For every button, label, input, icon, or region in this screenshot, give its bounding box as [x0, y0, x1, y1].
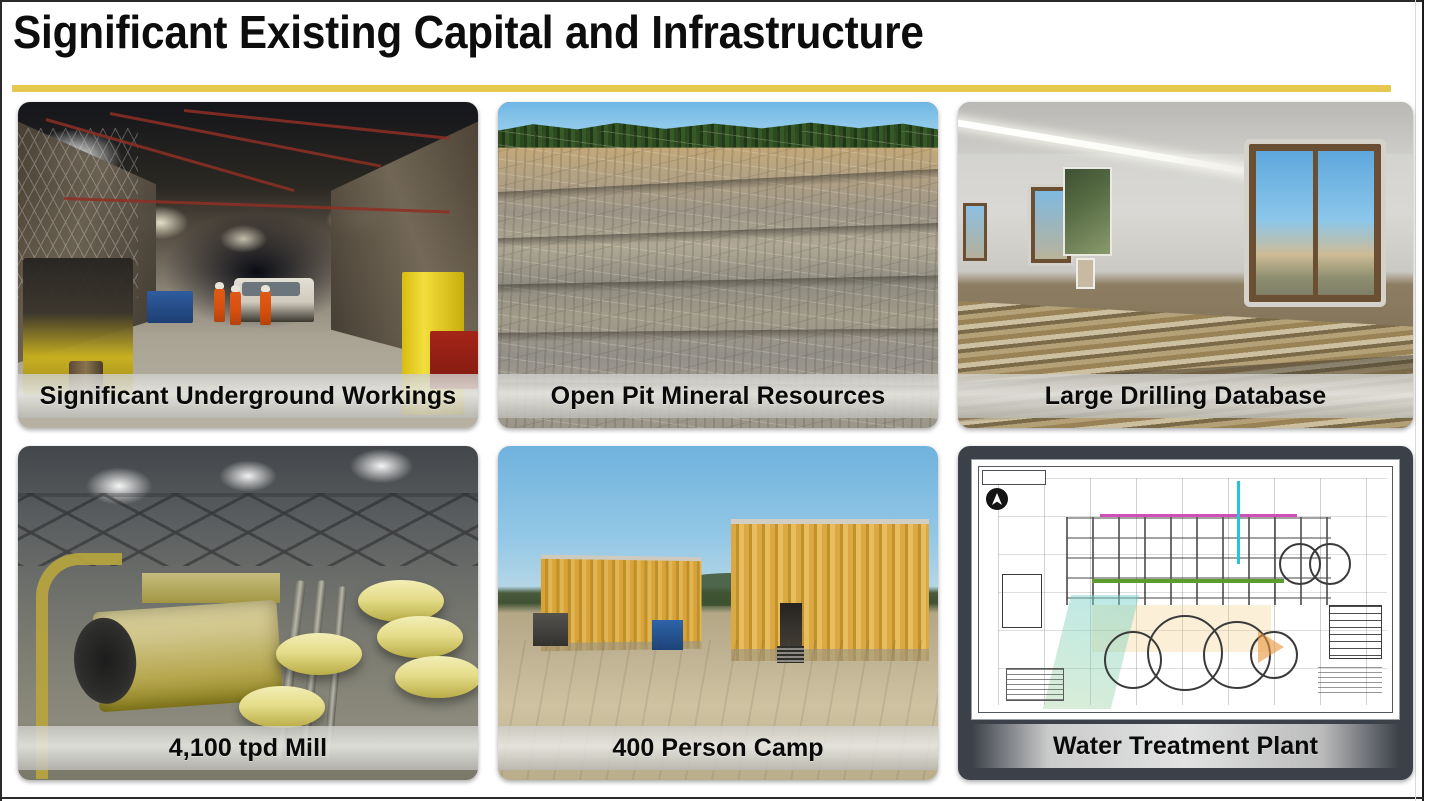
roof-bolt-line: [110, 112, 382, 168]
drawing-legend-table: [1329, 605, 1382, 659]
drawing-notes-left: [1006, 668, 1064, 701]
wall-window-small: [963, 203, 987, 261]
pipe-run-magenta: [1100, 514, 1296, 517]
process-tank: [1309, 543, 1351, 585]
slide-border-left: [0, 0, 2, 801]
card-caption: Significant Underground Workings: [18, 374, 478, 418]
slide-border-bottom: [0, 797, 1424, 799]
slide-border-right: [1422, 0, 1424, 801]
card-caption: 4,100 tpd Mill: [18, 726, 478, 770]
flotation-cell: [377, 616, 463, 658]
card-camp[interactable]: 400 Person Camp: [498, 446, 938, 780]
pipe-run-green: [1092, 579, 1284, 583]
north-arrow-icon: [986, 488, 1008, 510]
slide-root: Significant Existing Capital and Infrast…: [0, 0, 1429, 801]
page-title: Significant Existing Capital and Infrast…: [13, 2, 924, 62]
detail-callout-box: [1002, 574, 1042, 628]
drawing-notes-right: [1318, 667, 1382, 693]
slide-guide-line: [1415, 0, 1416, 801]
wall-window-large: [1249, 144, 1381, 301]
card-caption: Large Drilling Database: [958, 374, 1413, 418]
pipe-run-cyan: [1237, 481, 1240, 564]
drawing-title-block: [982, 470, 1046, 485]
flow-direction-marker: [1258, 631, 1284, 663]
wall-map-poster: [1063, 167, 1113, 256]
flotation-cell: [395, 656, 478, 698]
flotation-cell: [276, 633, 362, 675]
mine-worker: [260, 291, 271, 325]
card-caption: Water Treatment Plant: [972, 724, 1399, 768]
card-caption: 400 Person Camp: [498, 726, 938, 770]
blue-storage-bin: [147, 291, 193, 323]
card-underground-workings[interactable]: Significant Underground Workings: [18, 102, 478, 428]
card-caption: Open Pit Mineral Resources: [498, 374, 938, 418]
card-water-treatment-plant[interactable]: Water Treatment Plant: [958, 446, 1413, 780]
card-mill[interactable]: 4,100 tpd Mill: [18, 446, 478, 780]
mine-worker: [214, 288, 225, 322]
mine-worker: [230, 291, 241, 325]
title-divider-rule: [12, 85, 1391, 92]
card-open-pit[interactable]: Open Pit Mineral Resources: [498, 102, 938, 428]
wall-photo: [1076, 258, 1095, 288]
card-drilling-database[interactable]: Large Drilling Database: [958, 102, 1413, 428]
flotation-cell: [239, 686, 325, 728]
maintenance-platform: [142, 573, 280, 603]
utility-truck: [234, 278, 314, 322]
flotation-cell: [358, 580, 444, 622]
infrastructure-card-grid: Significant Underground Workings Open Pi…: [18, 102, 1411, 782]
engineering-drawing-sheet: [971, 459, 1400, 720]
